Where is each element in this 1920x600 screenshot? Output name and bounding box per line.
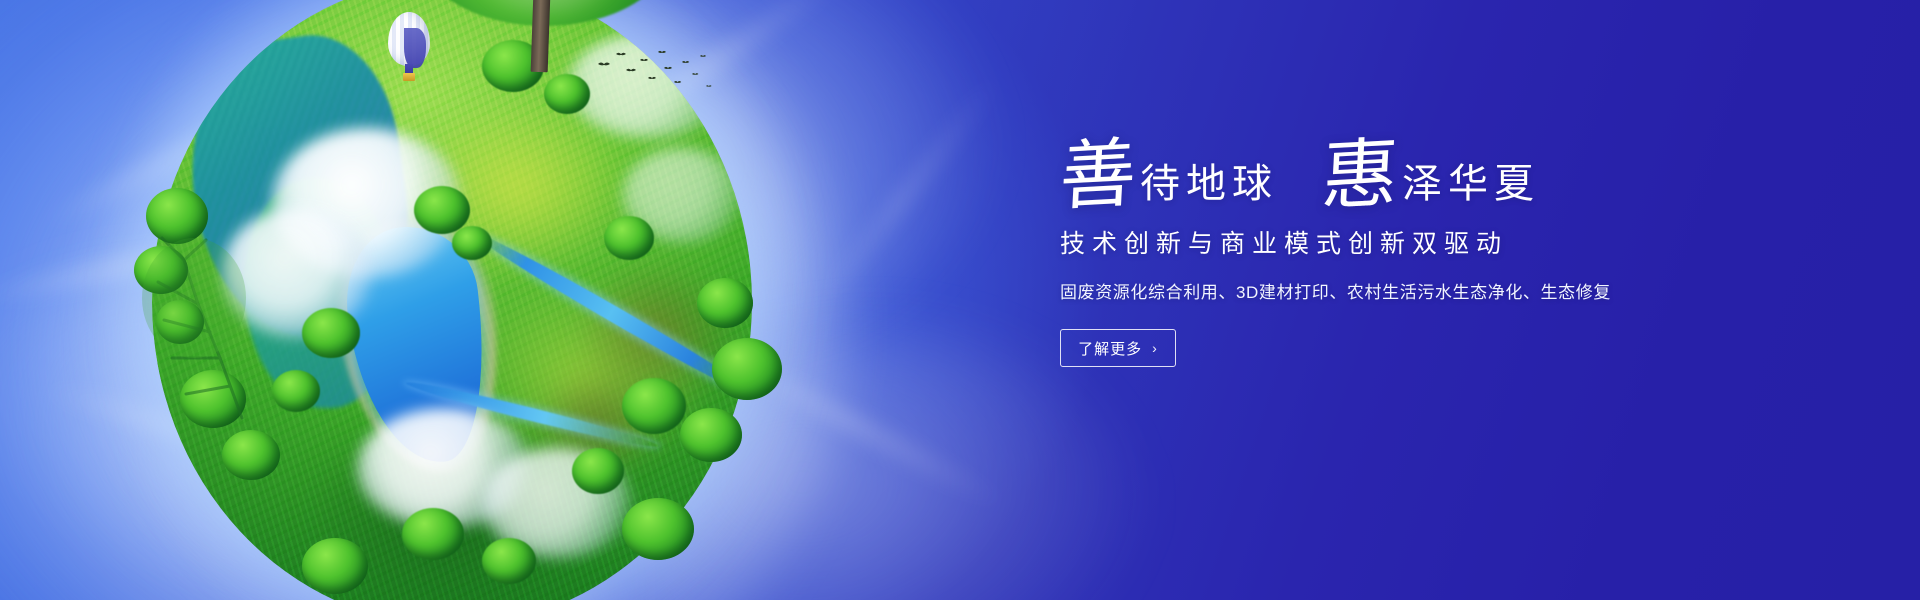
cloud-streak [811,65,1010,312]
headline-text-1: 待地球 [1140,164,1278,204]
headline-calligraphy-2: 惠 [1320,138,1398,212]
headline: 善 待地球 惠 泽华夏 [1060,124,1740,210]
headline-calligraphy-1: 善 [1058,138,1136,212]
bird-flock-icon [596,48,716,94]
rim-tree-silhouette [124,208,274,438]
rim-tree-canopy [302,538,368,594]
tree-canopy [544,74,590,114]
headline-text-2: 泽华夏 [1402,164,1540,204]
description: 固废资源化综合利用、3D建材打印、农村生活污水生态净化、生态修复 [1060,278,1740,303]
learn-more-button[interactable]: 了解更多 › [1060,329,1176,367]
tree-canopy [572,448,624,494]
subtitle: 技术创新与商业模式创新双驱动 [1060,224,1740,260]
rim-tree-canopy [712,338,782,400]
tree-canopy [604,216,654,260]
hero-banner: 善 待地球 惠 泽华夏 技术创新与商业模式创新双驱动 固废资源化综合利用、3D建… [0,0,1920,600]
rim-tree-canopy [697,278,753,328]
balloon-stripe [404,28,426,68]
tree-canopy [272,370,320,412]
hot-air-balloon-icon [388,12,430,86]
learn-more-label: 了解更多 [1078,338,1142,359]
tree-canopy [302,308,360,358]
tree-canopy [622,378,686,434]
banner-content: 善 待地球 惠 泽华夏 技术创新与商业模式创新双驱动 固废资源化综合利用、3D建… [1060,124,1740,367]
tree-canopy [452,226,492,260]
rim-tree-canopy [622,498,694,560]
balloon-basket [403,73,415,81]
tree-canopy [482,538,536,584]
hero-tree-trunk [531,0,551,72]
tree-canopy [414,186,470,234]
rim-tree-canopy [680,408,742,462]
chevron-right-icon: › [1152,341,1158,355]
tree-canopy [402,508,464,560]
